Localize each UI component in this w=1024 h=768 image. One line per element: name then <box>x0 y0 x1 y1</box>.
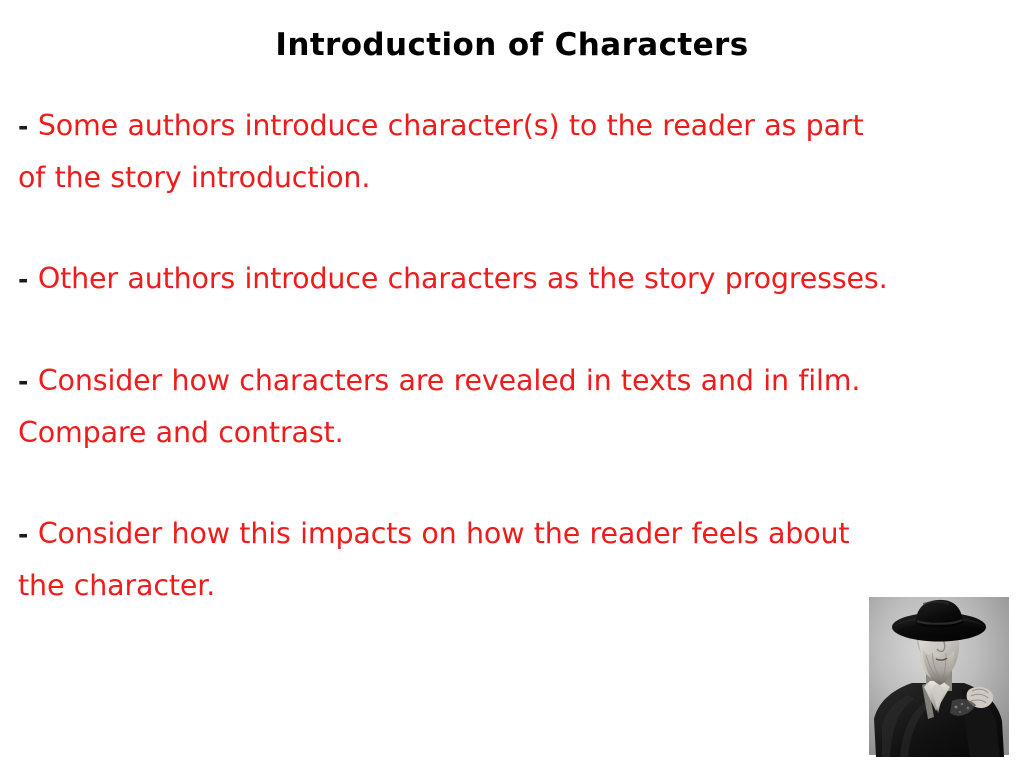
bullet-text: Consider how this impacts on how the rea… <box>18 517 849 602</box>
bullet-text: Some authors introduce character(s) to t… <box>18 109 864 194</box>
bullet-text: Consider how characters are revealed in … <box>18 364 860 449</box>
bullet-item: - Other authors introduce characters as … <box>18 253 898 305</box>
bullet-item: - Consider how characters are revealed i… <box>18 355 898 458</box>
bullet-list: - Some authors introduce character(s) to… <box>18 100 898 611</box>
presentation-slide: Introduction of Characters - Some author… <box>0 0 1024 768</box>
bullet-marker: - <box>18 367 28 396</box>
bullet-text: Other authors introduce characters as th… <box>38 262 888 295</box>
slide-title: Introduction of Characters <box>0 26 1024 64</box>
bullet-marker: - <box>18 520 28 549</box>
bullet-marker: - <box>18 265 28 294</box>
bullet-item: - Consider how this impacts on how the r… <box>18 508 898 611</box>
character-portrait-photo <box>866 593 1012 757</box>
bullet-marker: - <box>18 112 28 141</box>
bullet-item: - Some authors introduce character(s) to… <box>18 100 898 203</box>
